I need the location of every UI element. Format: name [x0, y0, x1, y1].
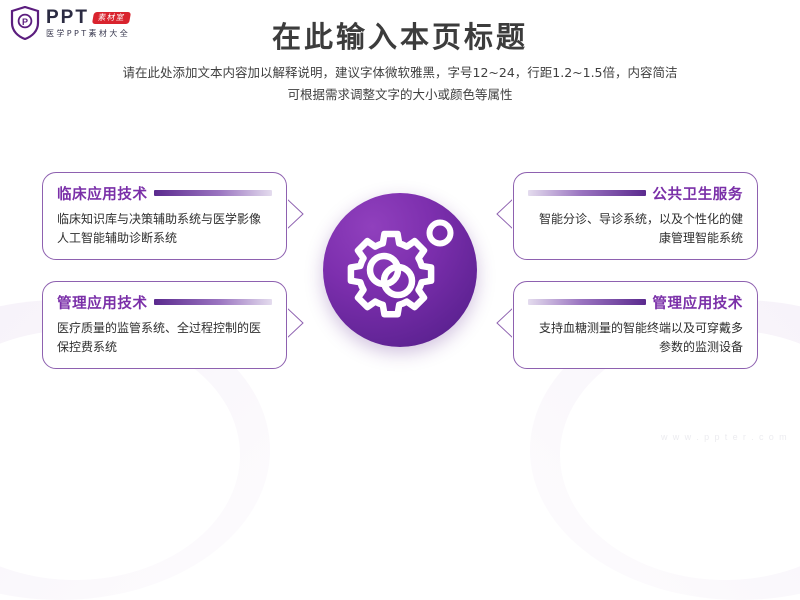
- card-pointer-tail: [496, 308, 513, 338]
- callout-card-management-application-right[interactable]: 管理应用技术 支持血糖测量的智能终端以及可穿戴多参数的监测设备: [513, 281, 758, 369]
- card-pointer-tail: [287, 199, 304, 229]
- card-body-text: 医疗质量的监管系统、全过程控制的医保控费系统: [57, 319, 272, 356]
- card-title: 公共卫生服务: [652, 183, 743, 204]
- gear-accent-dot-icon: [430, 223, 451, 244]
- card-body-text: 支持血糖测量的智能终端以及可穿戴多参数的监测设备: [528, 319, 743, 356]
- card-accent-bar: [528, 299, 646, 305]
- card-title: 管理应用技术: [652, 292, 743, 313]
- gear-icon: [323, 193, 477, 347]
- card-body-text: 临床知识库与决策辅助系统与医学影像人工智能辅助诊断系统: [57, 210, 272, 247]
- card-body-text: 智能分诊、导诊系统，以及个性化的健康管理智能系统: [528, 210, 743, 247]
- page-subtitle-line-1: 请在此处添加文本内容加以解释说明，建议字体微软雅黑，字号12~24，行距1.2~…: [0, 62, 800, 84]
- card-title: 管理应用技术: [57, 292, 148, 313]
- card-title: 临床应用技术: [57, 183, 148, 204]
- page-title: 在此输入本页标题: [0, 14, 800, 56]
- card-accent-bar: [528, 190, 646, 196]
- callout-card-management-application-left[interactable]: 管理应用技术 医疗质量的监管系统、全过程控制的医保控费系统: [42, 281, 287, 369]
- site-watermark: w w w . p p t e r . c o m: [661, 432, 788, 442]
- card-accent-bar: [154, 190, 272, 196]
- card-header: 管理应用技术: [528, 293, 743, 311]
- card-header: 管理应用技术: [57, 293, 272, 311]
- page-subtitle-line-2: 可根据需求调整文字的大小或颜色等属性: [0, 84, 800, 106]
- card-pointer-tail: [287, 308, 304, 338]
- center-hub: [323, 193, 477, 347]
- page-subtitle: 请在此处添加文本内容加以解释说明，建议字体微软雅黑，字号12~24，行距1.2~…: [0, 62, 800, 106]
- callout-card-clinical-application[interactable]: 临床应用技术 临床知识库与决策辅助系统与医学影像人工智能辅助诊断系统: [42, 172, 287, 260]
- card-header: 临床应用技术: [57, 184, 272, 202]
- card-pointer-tail: [496, 199, 513, 229]
- card-accent-bar: [154, 299, 272, 305]
- card-header: 公共卫生服务: [528, 184, 743, 202]
- callout-card-public-health-service[interactable]: 公共卫生服务 智能分诊、导诊系统，以及个性化的健康管理智能系统: [513, 172, 758, 260]
